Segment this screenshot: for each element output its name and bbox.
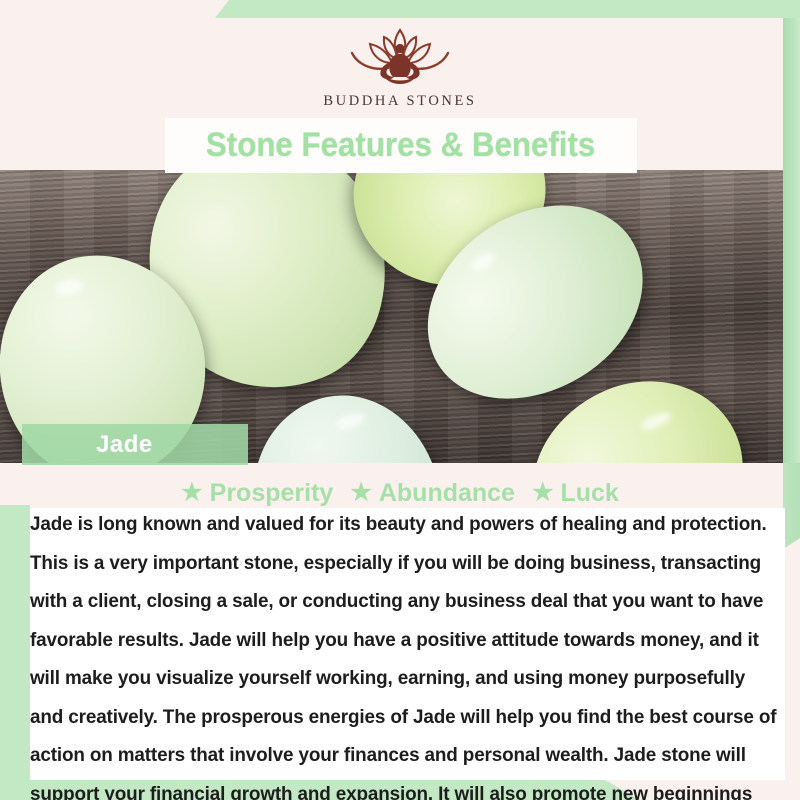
stone-photo — [0, 170, 783, 463]
brand-wordmark: BUDDHA STONES — [323, 93, 476, 110]
stone-info-card: BUDDHA STONES Stone Features & Benefits … — [0, 0, 800, 800]
keyword-label: Abundance — [379, 479, 515, 508]
accent-bar-left-lower — [0, 505, 30, 800]
accent-bar-top — [215, 0, 800, 18]
keyword-abundance: ★ Abundance — [350, 479, 515, 508]
keyword-label: Prosperity — [210, 479, 334, 508]
page-title: Stone Features & Benefits — [206, 126, 595, 165]
brand-logo: BUDDHA STONES — [0, 18, 800, 118]
keyword-luck: ★ Luck — [532, 479, 619, 508]
stone-name-band: Jade — [22, 424, 248, 465]
page-title-band: Stone Features & Benefits — [165, 118, 637, 173]
star-icon: ★ — [350, 481, 372, 505]
star-icon: ★ — [181, 481, 203, 505]
lotus-meditation-figure-icon — [336, 26, 464, 88]
star-icon: ★ — [532, 481, 554, 505]
stone-name-label: Jade — [96, 431, 153, 459]
body-paragraph: Jade is long known and valued for its be… — [30, 506, 779, 800]
keyword-prosperity: ★ Prosperity — [181, 479, 333, 508]
keyword-label: Luck — [560, 479, 618, 508]
